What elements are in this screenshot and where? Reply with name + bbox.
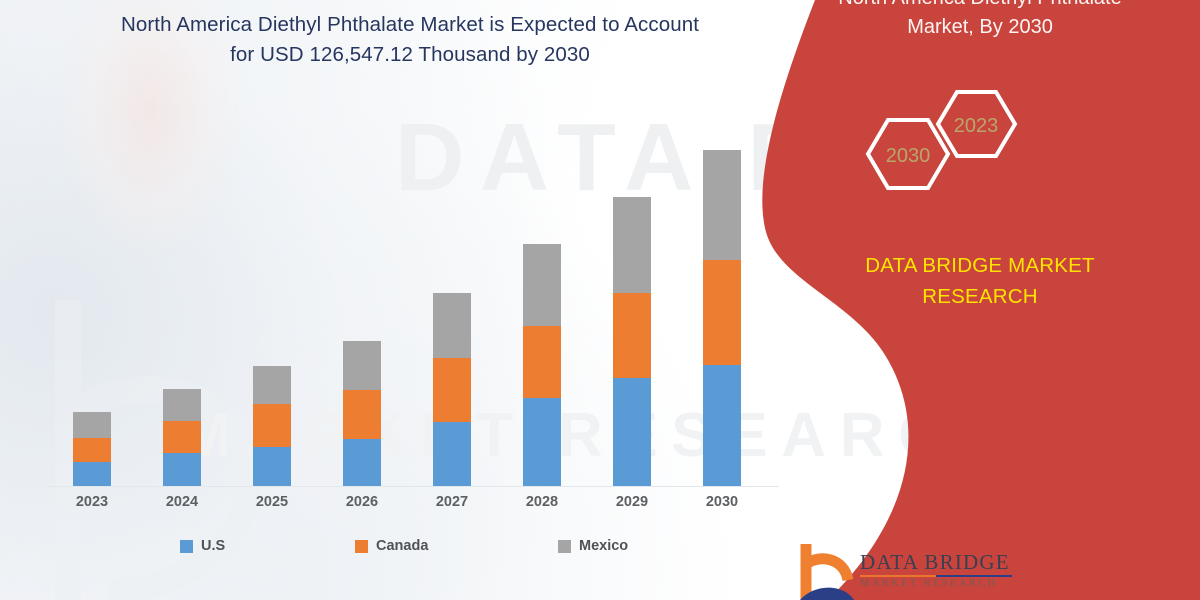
chart-baseline bbox=[46, 486, 779, 487]
bar-column-2028 bbox=[523, 244, 561, 486]
bar-segment-us-2030 bbox=[703, 365, 741, 486]
brand-name: DATA BRIDGE MARKET RESEARCH bbox=[760, 250, 1200, 312]
bar-segment-mexico-2030 bbox=[703, 150, 741, 260]
bar-column-2024 bbox=[163, 389, 201, 486]
bar-segment-canada-2030 bbox=[703, 260, 741, 365]
bar-segment-us-2023 bbox=[73, 462, 111, 486]
bar-segment-mexico-2028 bbox=[523, 244, 561, 326]
chart-x-axis-labels: 20232024202520262027202820292030 bbox=[40, 494, 785, 520]
bar-column-2026 bbox=[343, 341, 381, 486]
legend-label: U.S bbox=[201, 538, 225, 554]
brand-panel: North America Diethyl Phthalate Market, … bbox=[760, 0, 1200, 600]
legend-item-canada[interactable]: Canada bbox=[355, 538, 428, 554]
bar-segment-canada-2027 bbox=[433, 358, 471, 422]
bar-segment-us-2028 bbox=[523, 398, 561, 486]
stacked-bar-chart: 20232024202520262027202820292030 bbox=[40, 90, 785, 490]
x-axis-label-2026: 2026 bbox=[332, 494, 392, 510]
chart-title-line-1: North America Diethyl Phthalate Market i… bbox=[40, 10, 780, 40]
bar-segment-canada-2023 bbox=[73, 438, 111, 462]
legend-item-us[interactable]: U.S bbox=[180, 538, 225, 554]
logo-tagline: MARKET RESEARCH bbox=[860, 578, 998, 589]
hexagon-2023-label: 2023 bbox=[954, 115, 999, 137]
brand-name-line-2: RESEARCH bbox=[760, 281, 1200, 312]
hexagon-badges: 2030 2023 bbox=[760, 84, 1200, 224]
logo-bridge-icon bbox=[800, 542, 856, 600]
bar-segment-mexico-2027 bbox=[433, 293, 471, 358]
bar-column-2030 bbox=[703, 150, 741, 486]
legend-swatch-icon bbox=[355, 540, 368, 553]
bar-segment-us-2027 bbox=[433, 422, 471, 486]
x-axis-label-2023: 2023 bbox=[62, 494, 122, 510]
hexagon-2030-label: 2030 bbox=[886, 145, 931, 167]
x-axis-label-2030: 2030 bbox=[692, 494, 752, 510]
legend-swatch-icon bbox=[558, 540, 571, 553]
chart-title-line-2: for USD 126,547.12 Thousand by 2030 bbox=[40, 40, 780, 70]
brand-name-line-1: DATA BRIDGE MARKET bbox=[760, 250, 1200, 281]
logo-name: DATA BRIDGE bbox=[860, 550, 1010, 575]
logo-rule bbox=[860, 575, 1012, 577]
legend-label: Canada bbox=[376, 538, 428, 554]
bar-column-2023 bbox=[73, 412, 111, 486]
bar-segment-canada-2026 bbox=[343, 390, 381, 439]
bar-segment-us-2025 bbox=[253, 447, 291, 486]
bar-segment-canada-2024 bbox=[163, 421, 201, 453]
bar-segment-us-2029 bbox=[613, 378, 651, 486]
chart-plot-area bbox=[40, 90, 785, 486]
x-axis-label-2027: 2027 bbox=[422, 494, 482, 510]
legend-item-mexico[interactable]: Mexico bbox=[558, 538, 628, 554]
bar-segment-us-2026 bbox=[343, 439, 381, 486]
legend-swatch-icon bbox=[180, 540, 193, 553]
x-axis-label-2025: 2025 bbox=[242, 494, 302, 510]
bar-segment-us-2024 bbox=[163, 453, 201, 486]
panel-heading-line: Market, By 2030 bbox=[907, 16, 1053, 38]
panel-heading-clipped-line: North America Diethyl Phthalate bbox=[770, 0, 1190, 13]
panel-heading: North America Diethyl Phthalate Market, … bbox=[770, 0, 1190, 42]
bar-column-2027 bbox=[433, 293, 471, 486]
bar-segment-mexico-2029 bbox=[613, 197, 651, 293]
bar-segment-canada-2029 bbox=[613, 293, 651, 378]
bar-segment-mexico-2023 bbox=[73, 412, 111, 438]
x-axis-label-2028: 2028 bbox=[512, 494, 572, 510]
bar-segment-mexico-2026 bbox=[343, 341, 381, 390]
bar-segment-mexico-2024 bbox=[163, 389, 201, 421]
bar-segment-canada-2028 bbox=[523, 326, 561, 398]
bar-segment-canada-2025 bbox=[253, 404, 291, 447]
chart-legend: U.SCanadaMexico bbox=[40, 538, 785, 564]
bar-column-2029 bbox=[613, 197, 651, 486]
infographic-canvas: DATA BRIDGE MARKET RESEARCH North Americ… bbox=[0, 0, 1200, 600]
x-axis-label-2029: 2029 bbox=[602, 494, 662, 510]
company-logo: DATA BRIDGE MARKET RESEARCH bbox=[800, 538, 1050, 600]
bar-segment-mexico-2025 bbox=[253, 366, 291, 404]
chart-title: North America Diethyl Phthalate Market i… bbox=[40, 10, 780, 70]
x-axis-label-2024: 2024 bbox=[152, 494, 212, 510]
bar-column-2025 bbox=[253, 366, 291, 486]
legend-label: Mexico bbox=[579, 538, 628, 554]
